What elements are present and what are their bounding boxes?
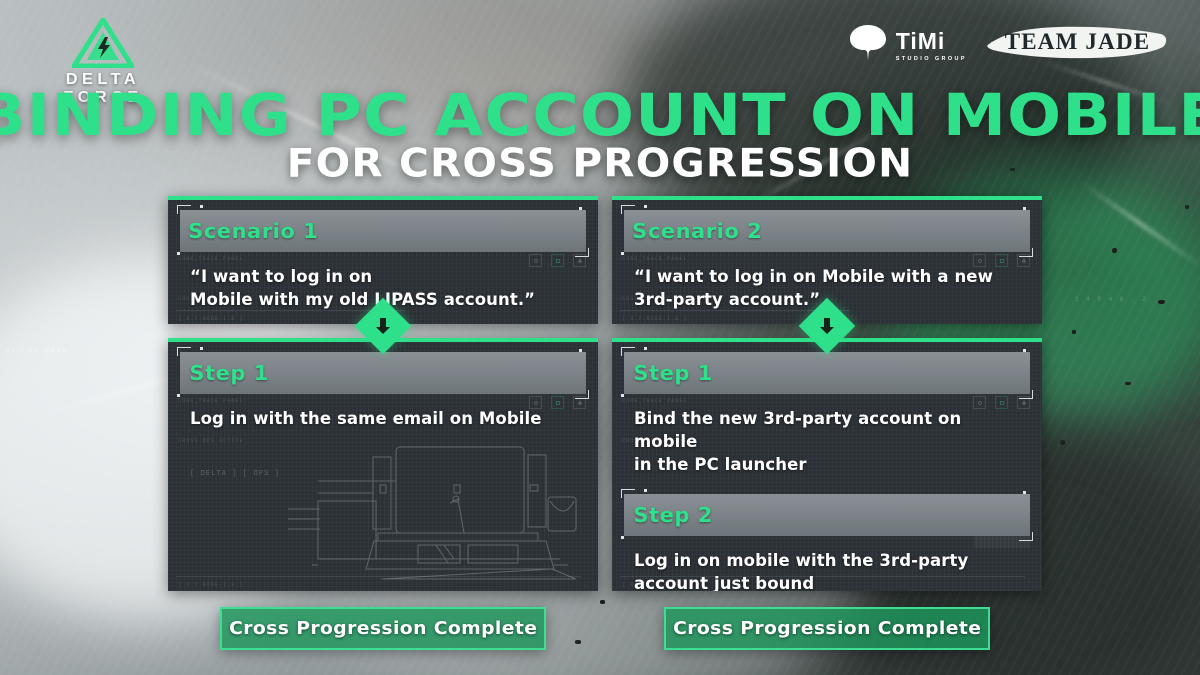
bracket-dot bbox=[200, 347, 203, 350]
timi-logo: TiMi STUDIO GROUP bbox=[847, 22, 967, 62]
blueprint-label: [ DELTA ] [ OPS ] bbox=[190, 470, 280, 478]
bracket-dot bbox=[644, 205, 647, 208]
cta-label: Cross Progression Complete bbox=[673, 618, 981, 639]
step-label: Step 2 bbox=[622, 503, 713, 527]
scenario-header-bar: Scenario 1 bbox=[180, 210, 586, 252]
timi-wordmark: TiMi bbox=[896, 30, 967, 53]
page-subtitle: FOR CROSS PROGRESSION bbox=[0, 142, 1200, 187]
bracket-dot bbox=[1023, 349, 1026, 352]
bracket-dot bbox=[1023, 207, 1026, 210]
step-header-bar: Step 1 bbox=[180, 352, 586, 394]
bracket-dot bbox=[644, 489, 647, 492]
step-text: Bind the new 3rd-party account on mobile… bbox=[624, 394, 1030, 488]
page-title: BINDING PC ACCOUNT ON MOBILE bbox=[0, 82, 1200, 149]
pc-setup-blueprint-illustration bbox=[168, 441, 598, 591]
corner-bracket-icon bbox=[621, 489, 635, 498]
bracket-dot bbox=[579, 349, 582, 352]
panel-hud-rule bbox=[176, 576, 581, 577]
bracket-dot bbox=[579, 207, 582, 210]
scenario-label: Scenario 1 bbox=[177, 219, 319, 243]
step-label: Step 1 bbox=[178, 361, 269, 385]
scenario-header-bar: Scenario 2 bbox=[624, 210, 1030, 252]
step-panel: CORE_TRACE PANEL CROSS OPS ACTIVE [ DELT… bbox=[168, 338, 598, 591]
team-jade-wordmark: TEAM JADE bbox=[985, 20, 1170, 64]
bracket-dot bbox=[200, 205, 203, 208]
bracket-dot bbox=[1023, 491, 1026, 494]
corner-bracket-icon bbox=[621, 347, 635, 356]
step-label: Step 1 bbox=[622, 361, 713, 385]
timi-cloud-icon bbox=[847, 22, 889, 62]
cta-label: Cross Progression Complete bbox=[229, 618, 537, 639]
step-header-bar: Step 2 bbox=[624, 494, 1030, 536]
step-text: Log in on mobile with the 3rd-party acco… bbox=[624, 536, 1030, 591]
bracket-dot bbox=[644, 347, 647, 350]
column-scenario-1: CORE_TRACE PANEL CROSS OPS ACTIVE [ X.Y.… bbox=[168, 196, 598, 650]
delta-force-triangle-icon bbox=[72, 18, 134, 68]
timi-subtitle: STUDIO GROUP bbox=[896, 56, 967, 62]
step-panel: CORE_TRACE PANEL CROSS OPS ACTIVE [ X.Y.… bbox=[612, 338, 1042, 591]
panel-hud-tag: [ X.Y.NODE-1.8 ] bbox=[178, 582, 244, 588]
cross-progression-complete-button[interactable]: Cross Progression Complete bbox=[220, 607, 546, 650]
bg-hud-log-text: OF LOG DATA. bbox=[6, 348, 73, 355]
step-panel-inner: Step 1 Bind the new 3rd-party account on… bbox=[612, 342, 1042, 591]
corner-bracket-icon bbox=[177, 347, 191, 356]
partner-logos: TiMi STUDIO GROUP TEAM JADE bbox=[847, 20, 1170, 64]
corner-bracket-icon bbox=[177, 205, 191, 214]
team-jade-logo: TEAM JADE bbox=[985, 20, 1170, 64]
corner-bracket-icon bbox=[621, 205, 635, 214]
step-panel-inner: Step 1 Log in with the same email on Mob… bbox=[168, 342, 598, 447]
column-scenario-2: CORE_TRACE PANEL CROSS OPS ACTIVE [ X.Y.… bbox=[612, 196, 1042, 650]
step-header-bar: Step 1 bbox=[624, 352, 1030, 394]
scenario-label: Scenario 2 bbox=[621, 219, 763, 243]
arrow-down-icon bbox=[819, 317, 835, 335]
bg-hud-marker: 1 4 0 4 6 . 2 bbox=[1075, 296, 1148, 303]
cross-progression-complete-button[interactable]: Cross Progression Complete bbox=[664, 607, 990, 650]
arrow-down-icon bbox=[375, 317, 391, 335]
step-text: Log in with the same email on Mobile bbox=[180, 394, 586, 435]
